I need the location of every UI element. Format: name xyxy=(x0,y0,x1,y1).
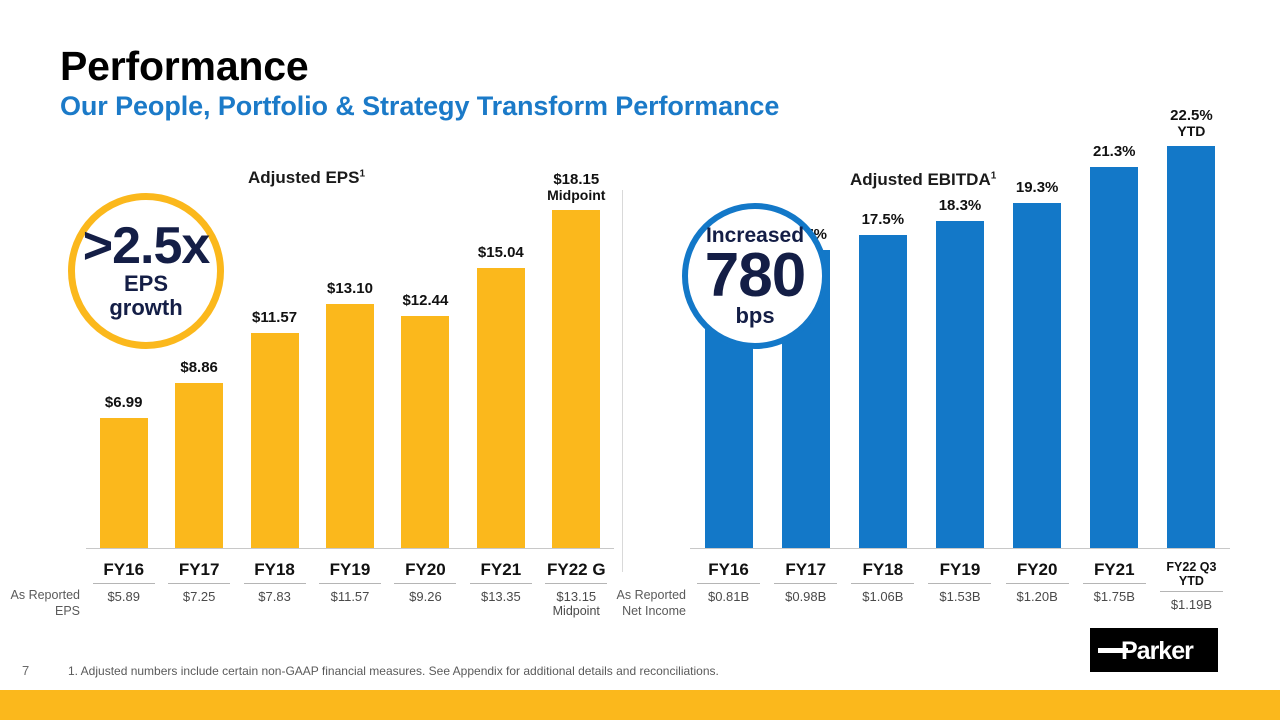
category-cell: FY21$1.75B xyxy=(1076,560,1153,604)
category-cell: FY18$7.83 xyxy=(237,560,312,604)
bar-value-label: $18.15Midpoint xyxy=(547,172,605,204)
bar-slot: 21.3% xyxy=(1076,128,1153,548)
bar-slot: 18.3% xyxy=(921,128,998,548)
category-label: FY22 Q3YTD xyxy=(1153,560,1230,588)
category-rule xyxy=(774,583,837,584)
table-cell-value: $1.06B xyxy=(844,589,921,605)
bar-slot: $11.57 xyxy=(237,148,312,548)
category-rule xyxy=(168,583,230,584)
bar-fy22-q3-ytd xyxy=(1167,146,1215,548)
bar-slot: $18.15Midpoint xyxy=(539,148,614,548)
left-axis-baseline xyxy=(86,548,614,549)
category-cell: FY20$9.26 xyxy=(388,560,463,604)
table-cell-value: $1.53B xyxy=(921,589,998,605)
bar-value-label: 22.5%YTD xyxy=(1170,108,1213,140)
bar-value-label: 19.3% xyxy=(1016,180,1059,197)
page-number: 7 xyxy=(22,663,29,678)
bar-value-label: $6.99 xyxy=(105,395,143,412)
left-chart-panel: Adjusted EPS1 $6.99$8.86$11.57$13.10$12.… xyxy=(0,0,622,720)
category-cell: FY19$11.57 xyxy=(312,560,387,604)
category-cell: FY21$13.35 xyxy=(463,560,538,604)
bar-slot: 17.5% xyxy=(844,128,921,548)
bar-fy21 xyxy=(477,268,525,548)
right-row-label: As Reported Net Income xyxy=(614,588,686,619)
ebitda-bps-badge-unit: bps xyxy=(735,304,774,328)
bar-value-label: $11.57 xyxy=(252,310,297,327)
left-category-row: FY16$5.89FY17$7.25FY18$7.83FY19$11.57FY2… xyxy=(86,560,614,646)
ebitda-bps-badge-value: 780 xyxy=(705,247,805,304)
category-rule xyxy=(93,583,155,584)
bar-slot: 19.3% xyxy=(999,128,1076,548)
left-row-label: As Reported EPS xyxy=(0,588,80,619)
bottom-accent-bar xyxy=(0,690,1280,720)
bar-fy20 xyxy=(401,316,449,548)
bar-slot: $12.44 xyxy=(388,148,463,548)
right-row-label-line1: As Reported xyxy=(614,588,686,604)
category-label: FY19 xyxy=(312,560,387,580)
table-cell-value: $1.75B xyxy=(1076,589,1153,605)
category-rule xyxy=(1006,583,1069,584)
category-cell: FY16$0.81B xyxy=(690,560,767,604)
table-cell-subvalue: Midpoint xyxy=(539,604,614,619)
category-label: FY18 xyxy=(844,560,921,580)
table-cell-value: $0.81B xyxy=(690,589,767,605)
category-rule xyxy=(1160,591,1223,592)
category-rule xyxy=(319,583,381,584)
bar-value-label: $12.44 xyxy=(402,293,448,310)
bar-fy22-g xyxy=(552,210,600,548)
table-cell-value: $13.15Midpoint xyxy=(539,589,614,620)
table-cell-value: $1.19B xyxy=(1153,597,1230,613)
category-cell: FY19$1.53B xyxy=(921,560,998,604)
category-label: FY16 xyxy=(690,560,767,580)
bar-fy21 xyxy=(1090,167,1138,548)
left-row-label-line1: As Reported xyxy=(0,588,80,604)
bar-value-label: 17.5% xyxy=(862,212,905,229)
bar-slot: 22.5%YTD xyxy=(1153,128,1230,548)
category-rule xyxy=(470,583,532,584)
eps-growth-badge: >2.5x EPS growth xyxy=(68,193,224,349)
category-label: FY20 xyxy=(388,560,463,580)
bar-fy20 xyxy=(1013,203,1061,548)
category-rule xyxy=(851,583,914,584)
left-row-label-line2: EPS xyxy=(0,604,80,620)
right-chart-panel: Adjusted EBITDA1 14.7%16.7%17.5%18.3%19.… xyxy=(622,0,1280,720)
ebitda-bps-badge: Increased 780 bps xyxy=(682,203,828,349)
category-label: FY17 xyxy=(767,560,844,580)
svg-text:Parker: Parker xyxy=(1121,637,1194,665)
category-label: FY16 xyxy=(86,560,161,580)
bar-fy17 xyxy=(175,383,223,548)
bar-value-label: $8.86 xyxy=(180,360,218,377)
bar-value-sublabel: YTD xyxy=(1170,124,1213,140)
table-cell-value: $0.98B xyxy=(767,589,844,605)
category-label: FY21 xyxy=(1076,560,1153,580)
category-cell: FY17$0.98B xyxy=(767,560,844,604)
slide: Performance Our People, Portfolio & Stra… xyxy=(0,0,1280,720)
category-rule xyxy=(928,583,991,584)
category-label: FY19 xyxy=(921,560,998,580)
category-label: FY20 xyxy=(999,560,1076,580)
table-cell-value: $1.20B xyxy=(999,589,1076,605)
bar-fy18 xyxy=(251,333,299,548)
category-cell: FY22 G$13.15Midpoint xyxy=(539,560,614,619)
table-cell-value: $13.35 xyxy=(463,589,538,605)
bar-value-label: $13.10 xyxy=(327,281,373,298)
right-row-label-line2: Net Income xyxy=(614,604,686,620)
eps-growth-badge-line2: EPS xyxy=(124,272,168,296)
bar-fy19 xyxy=(936,221,984,548)
category-label: FY21 xyxy=(463,560,538,580)
footnote: 1. Adjusted numbers include certain non-… xyxy=(68,664,719,678)
bar-value-label: $15.04 xyxy=(478,245,524,262)
bar-value-sublabel: Midpoint xyxy=(547,188,605,204)
bar-fy16 xyxy=(100,418,148,548)
table-cell-value: $7.83 xyxy=(237,589,312,605)
category-cell: FY22 Q3YTD$1.19B xyxy=(1153,560,1230,613)
bar-value-label: 18.3% xyxy=(939,198,982,215)
category-label: FY17 xyxy=(161,560,236,580)
table-cell-value: $7.25 xyxy=(161,589,236,605)
bar-value-label: 21.3% xyxy=(1093,144,1136,161)
table-cell-value: $9.26 xyxy=(388,589,463,605)
eps-growth-badge-line3: growth xyxy=(109,296,182,320)
category-cell: FY17$7.25 xyxy=(161,560,236,604)
category-rule xyxy=(394,583,456,584)
table-cell-value: $11.57 xyxy=(312,589,387,605)
right-axis-baseline xyxy=(690,548,1230,549)
bar-fy18 xyxy=(859,235,907,548)
category-rule xyxy=(697,583,760,584)
bar-fy19 xyxy=(326,304,374,548)
eps-growth-badge-value: >2.5x xyxy=(83,222,210,272)
bar-slot: $13.10 xyxy=(312,148,387,548)
parker-logo: Parker xyxy=(1090,628,1218,672)
category-cell: FY20$1.20B xyxy=(999,560,1076,604)
category-rule xyxy=(244,583,306,584)
category-cell: FY18$1.06B xyxy=(844,560,921,604)
category-cell: FY16$5.89 xyxy=(86,560,161,604)
category-rule xyxy=(1083,583,1146,584)
category-label: FY22 G xyxy=(539,560,614,580)
category-rule xyxy=(545,583,607,584)
bar-slot: $15.04 xyxy=(463,148,538,548)
table-cell-value: $5.89 xyxy=(86,589,161,605)
category-label: FY18 xyxy=(237,560,312,580)
